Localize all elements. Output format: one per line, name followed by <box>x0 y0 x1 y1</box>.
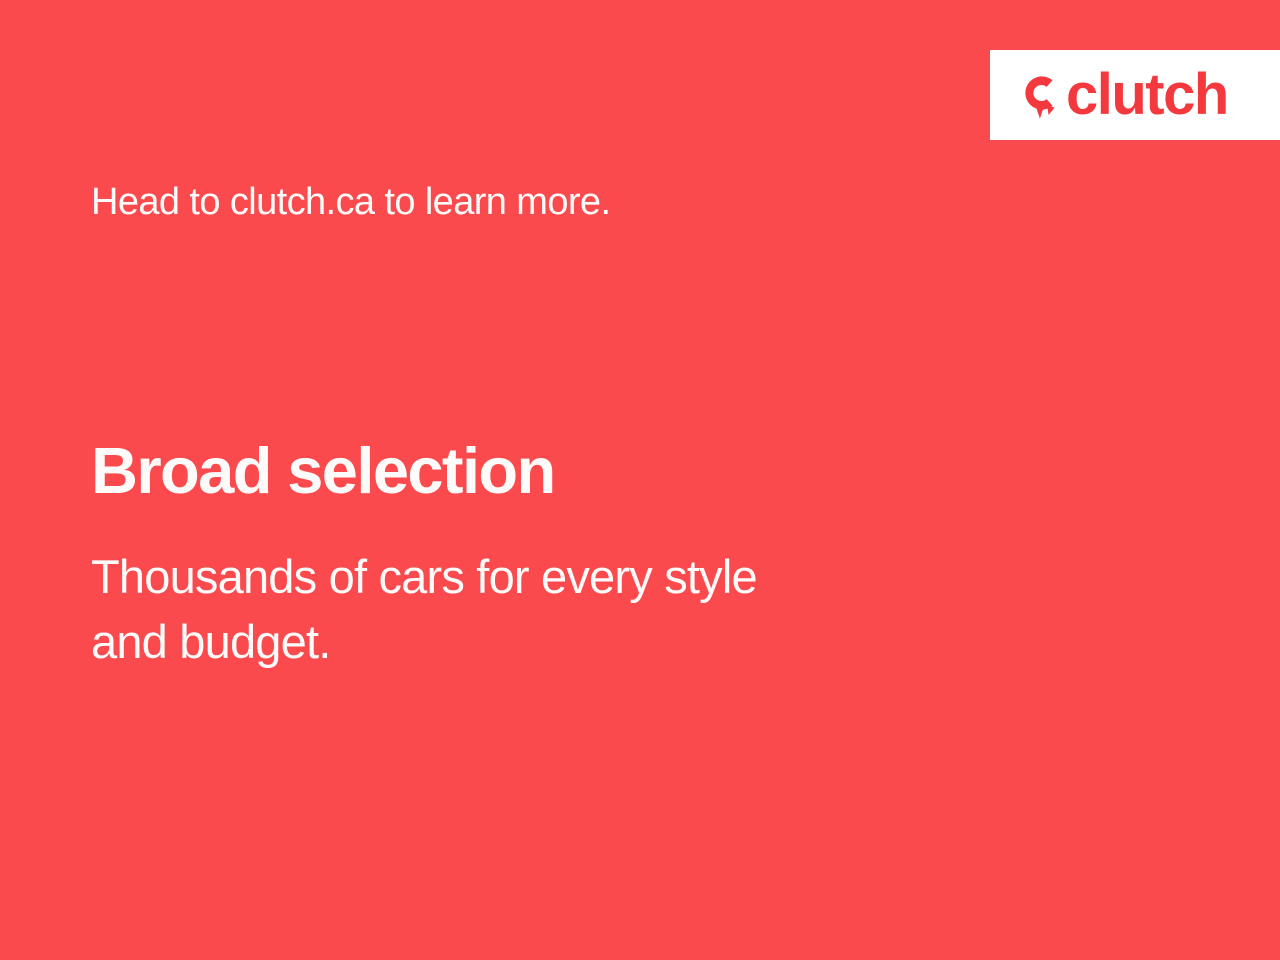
subheadline-line-1: Thousands of cars for every style <box>91 545 1051 610</box>
subheadline-line-2: and budget. <box>91 610 1051 675</box>
page-title: Broad selection <box>91 436 555 506</box>
subheadline: Thousands of cars for every style and bu… <box>91 545 1051 675</box>
eyebrow-text: Head to clutch.ca to learn more. <box>91 180 610 226</box>
brand-wordmark: clutch <box>1066 66 1228 124</box>
clutch-c-mark-icon <box>1016 69 1062 121</box>
logo-lockup: clutch <box>1016 66 1228 124</box>
brand-logo-badge: clutch <box>990 50 1280 140</box>
promo-slide: clutch Head to clutch.ca to learn more. … <box>0 0 1280 960</box>
